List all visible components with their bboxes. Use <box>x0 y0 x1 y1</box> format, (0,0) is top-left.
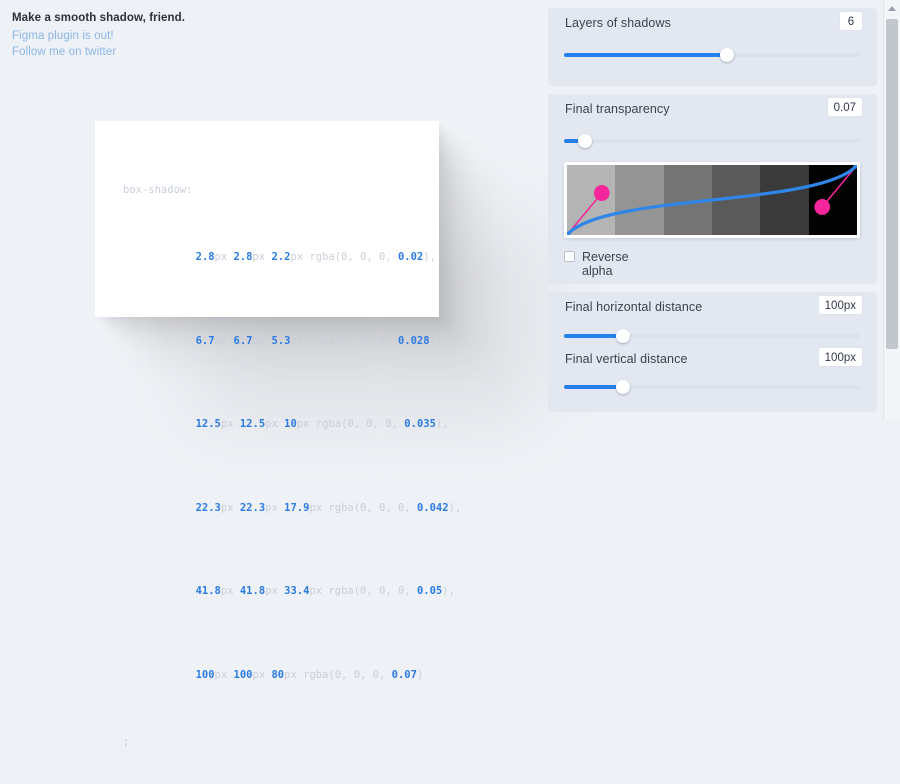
preview-area: Make a smooth shadow, friend. Figma plug… <box>0 0 545 420</box>
horizontal-distance-value-input[interactable]: 100px <box>818 295 863 315</box>
transparency-slider-track[interactable] <box>564 139 860 143</box>
layers-value-input[interactable]: 6 <box>839 11 863 31</box>
layers-slider-fill <box>564 53 727 57</box>
code-unit: px <box>297 418 310 430</box>
vertical-distance-slider[interactable] <box>564 380 860 394</box>
code-shadow-line: 100px 100px 80px rgba(0, 0, 0, 0.07) <box>123 650 461 700</box>
code-offset-x: 100 <box>196 669 215 681</box>
code-tail: ), <box>449 502 462 514</box>
code-unit: px <box>253 335 266 347</box>
code-blur: 2.2 <box>271 251 290 263</box>
code-offset-y: 100 <box>234 669 253 681</box>
vertical-slider-thumb[interactable] <box>616 380 630 394</box>
code-unit: px <box>290 335 303 347</box>
code-alpha: 0.042 <box>417 502 449 514</box>
code-offset-y: 22.3 <box>240 502 265 514</box>
code-offset-y: 2.8 <box>234 251 253 263</box>
code-unit: px <box>309 502 322 514</box>
bezier-curve-path <box>567 165 857 235</box>
code-shadow-line: 22.3px 22.3px 17.9px rgba(0, 0, 0, 0.042… <box>123 483 461 533</box>
code-offset-y: 41.8 <box>240 585 265 597</box>
code-alpha: 0.035 <box>404 418 436 430</box>
panel-final-distances: Final horizontal distance 100px Final ve… <box>548 292 877 412</box>
scroll-up-arrow-icon[interactable] <box>884 0 900 17</box>
figma-plugin-link[interactable]: Figma plugin is out! <box>12 31 185 43</box>
code-alpha: 0.07 <box>392 669 417 681</box>
code-tail: ), <box>423 251 436 263</box>
code-unit: px <box>221 502 234 514</box>
code-alpha: 0.02 <box>398 251 423 263</box>
code-unit: px <box>265 585 278 597</box>
curve-anchor-start[interactable] <box>567 232 570 236</box>
code-shadow-line: 2.8px 2.8px 2.2px rgba(0, 0, 0, 0.02), <box>123 233 461 283</box>
code-tail: ), <box>442 585 455 597</box>
code-shadow-line: 6.7px 6.7px 5.3px rgba(0, 0, 0, 0.028), <box>123 316 461 366</box>
horizontal-distance-label: Final horizontal distance <box>565 300 702 314</box>
code-shadow-line: 41.8px 41.8px 33.4px rgba(0, 0, 0, 0.05)… <box>123 567 461 617</box>
code-rgba: rgba(0, 0, 0, <box>303 669 392 681</box>
code-unit: px <box>253 251 266 263</box>
transparency-value-input[interactable]: 0.07 <box>827 97 863 117</box>
code-offset-x: 6.7 <box>196 335 215 347</box>
controls-panel: Layers of shadows 6 Final transparency 0… <box>545 0 883 420</box>
code-tail: ), <box>436 418 449 430</box>
twitter-link[interactable]: Follow me on twitter <box>12 47 185 59</box>
transparency-slider[interactable] <box>564 134 860 148</box>
shadow-preview-card: box-shadow: 2.8px 2.8px 2.2px rgba(0, 0,… <box>95 121 439 317</box>
reverse-alpha-checkbox[interactable] <box>564 251 575 262</box>
code-offset-x: 41.8 <box>196 585 221 597</box>
horizontal-distance-row: Final horizontal distance 100px <box>548 292 877 322</box>
layers-slider[interactable] <box>564 48 860 62</box>
vertical-distance-row: Final vertical distance 100px <box>548 344 877 374</box>
code-unit: px <box>284 669 297 681</box>
vertical-distance-value-input[interactable]: 100px <box>818 347 863 367</box>
code-tail: ), <box>430 335 443 347</box>
intro-block: Make a smooth shadow, friend. Figma plug… <box>12 13 185 64</box>
code-alpha: 0.028 <box>398 335 430 347</box>
scrollbar-thumb[interactable] <box>886 19 898 349</box>
panel-layers-of-shadows: Layers of shadows 6 <box>548 8 877 86</box>
css-code-output[interactable]: box-shadow: 2.8px 2.8px 2.2px rgba(0, 0,… <box>123 149 461 784</box>
panel-final-transparency: Final transparency 0.07 <box>548 94 877 284</box>
layers-label: Layers of shadows <box>565 16 671 30</box>
curve-anchor-end[interactable] <box>854 165 857 169</box>
reverse-alpha-label: Reverse alpha <box>582 250 629 278</box>
horizontal-distance-slider[interactable] <box>564 329 860 343</box>
code-tail: ) <box>417 669 423 681</box>
page-title: Make a smooth shadow, friend. <box>12 13 185 25</box>
easing-curve-editor[interactable] <box>564 162 860 238</box>
curve-control-point-2[interactable] <box>814 199 830 215</box>
code-terminator: ; <box>123 734 461 751</box>
code-blur: 10 <box>284 418 297 430</box>
code-property: box-shadow: <box>123 182 461 199</box>
bezier-curve-svg[interactable] <box>567 165 857 235</box>
code-unit: px <box>265 418 278 430</box>
code-unit: px <box>221 585 234 597</box>
code-unit: px <box>290 251 303 263</box>
code-rgba: rgba(0, 0, 0, <box>328 585 417 597</box>
code-offset-x: 22.3 <box>196 502 221 514</box>
transparency-slider-thumb[interactable] <box>578 134 592 148</box>
page-scrollbar[interactable] <box>883 0 900 420</box>
layers-row: Layers of shadows 6 <box>548 8 877 38</box>
code-unit: px <box>253 669 266 681</box>
code-offset-y: 6.7 <box>234 335 253 347</box>
code-offset-x: 12.5 <box>196 418 221 430</box>
code-offset-x: 2.8 <box>196 251 215 263</box>
code-unit: px <box>215 335 228 347</box>
horizontal-slider-thumb[interactable] <box>616 329 630 343</box>
curve-control-point-1[interactable] <box>594 185 610 201</box>
code-rgba: rgba(0, 0, 0, <box>309 251 398 263</box>
code-rgba: rgba(0, 0, 0, <box>309 335 398 347</box>
layers-slider-thumb[interactable] <box>720 48 734 62</box>
code-unit: px <box>215 669 228 681</box>
vertical-distance-label: Final vertical distance <box>565 352 688 366</box>
code-offset-y: 12.5 <box>240 418 265 430</box>
code-blur: 5.3 <box>271 335 290 347</box>
code-unit: px <box>265 502 278 514</box>
vertical-slider-fill <box>564 385 623 389</box>
code-blur: 33.4 <box>284 585 309 597</box>
code-unit: px <box>309 585 322 597</box>
horizontal-slider-fill <box>564 334 623 338</box>
code-blur: 17.9 <box>284 502 309 514</box>
transparency-label: Final transparency <box>565 102 670 116</box>
code-alpha: 0.05 <box>417 585 442 597</box>
transparency-row: Final transparency 0.07 <box>548 94 877 124</box>
code-blur: 80 <box>271 669 284 681</box>
curve-editor-canvas[interactable] <box>567 165 857 235</box>
code-rgba: rgba(0, 0, 0, <box>316 418 405 430</box>
code-shadow-line: 12.5px 12.5px 10px rgba(0, 0, 0, 0.035), <box>123 400 461 450</box>
code-unit: px <box>221 418 234 430</box>
code-unit: px <box>215 251 228 263</box>
code-rgba: rgba(0, 0, 0, <box>328 502 417 514</box>
